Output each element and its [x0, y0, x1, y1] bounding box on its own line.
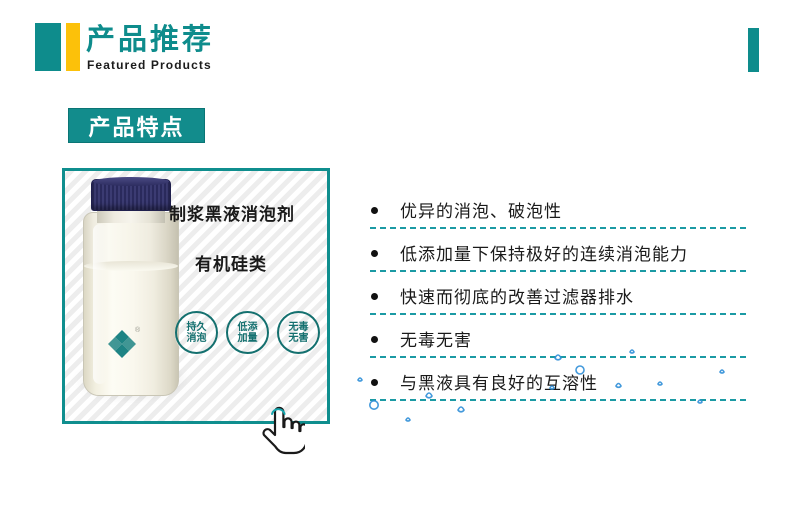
- hand-pointer-icon: [259, 403, 305, 455]
- bullet-icon: [371, 293, 378, 300]
- registered-mark: ®: [135, 327, 140, 334]
- product-badge: 低添 加量: [226, 311, 269, 354]
- bottle-highlight: [93, 224, 107, 384]
- badge-line-2: 消泡: [187, 333, 207, 344]
- feature-divider: [370, 227, 746, 229]
- product-name: 制浆黑液消泡剂: [169, 200, 295, 225]
- product-feature-page: 产品推荐 Featured Products 产品特点: [0, 0, 800, 508]
- feature-text: 快速而彻底的改善过滤器排水: [400, 283, 634, 308]
- bottle-cap-top: [93, 177, 169, 186]
- page-title: 产品推荐: [86, 22, 214, 56]
- feature-item: 快速而彻底的改善过滤器排水: [368, 278, 748, 321]
- product-badge-group: 持久 消泡 低添 加量 无毒 无害: [175, 311, 320, 354]
- header-yellow-block: [66, 23, 80, 71]
- feature-divider: [370, 270, 746, 272]
- section-tag-product-features: 产品特点: [68, 108, 205, 143]
- product-badge: 持久 消泡: [175, 311, 218, 354]
- bullet-icon: [371, 250, 378, 257]
- feature-divider: [370, 313, 746, 315]
- feature-text: 低添加量下保持极好的连续消泡能力: [400, 240, 688, 265]
- bullet-icon: [371, 207, 378, 214]
- badge-line-1: 持久: [187, 322, 207, 333]
- section-tag-label: 产品特点: [88, 110, 184, 142]
- feature-text: 优异的消泡、破泡性: [400, 197, 562, 222]
- product-showcase-panel: ® 制浆黑液消泡剂 有机硅类 持久 消泡 低添 加量 无毒 无害: [62, 168, 330, 424]
- badge-line-2: 加量: [238, 333, 258, 344]
- badge-line-2: 无害: [289, 333, 309, 344]
- page-subtitle: Featured Products: [87, 58, 212, 72]
- header-right-accent-bar: [748, 28, 759, 72]
- product-category: 有机硅类: [195, 250, 267, 275]
- header-teal-block: [35, 23, 61, 71]
- bullet-icon: [371, 336, 378, 343]
- feature-text: 无毒无害: [400, 326, 472, 351]
- badge-line-1: 低添: [238, 322, 258, 333]
- feature-item: 优异的消泡、破泡性: [368, 192, 748, 235]
- product-badge: 无毒 无害: [277, 311, 320, 354]
- badge-line-1: 无毒: [289, 322, 309, 333]
- feature-item: 低添加量下保持极好的连续消泡能力: [368, 235, 748, 278]
- brand-diamond-logo-icon: [107, 329, 137, 359]
